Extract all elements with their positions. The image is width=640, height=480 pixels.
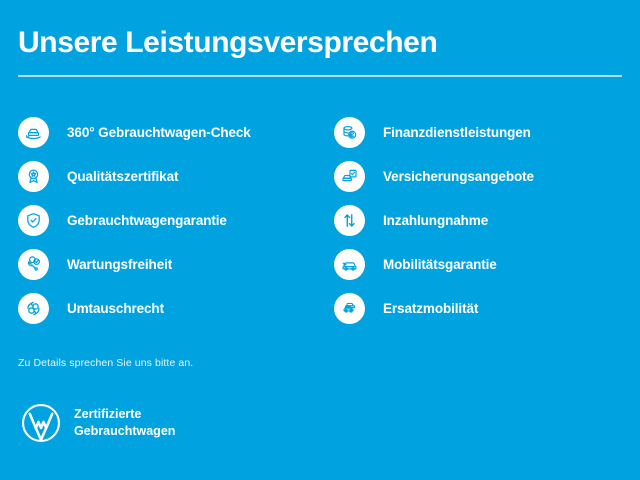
header-divider — [18, 75, 622, 77]
header: Unsere Leistungsversprechen — [18, 26, 622, 59]
benefit-label: Gebrauchtwagengarantie — [67, 213, 227, 228]
benefit-item-umtauschrecht[interactable]: Umtauschrecht — [18, 286, 318, 330]
benefit-item-gebrauchtwagengarantie[interactable]: Gebrauchtwagengarantie — [18, 198, 318, 242]
arrows-up-down-icon — [334, 205, 365, 236]
exchange-arrows-icon — [18, 293, 49, 324]
car-document-check-icon — [334, 161, 365, 192]
benefit-label: Inzahlungnahme — [383, 213, 488, 228]
benefit-item-versicherungsangebote[interactable]: Versicherungsangebote — [334, 154, 624, 198]
slide-root: Unsere Leistungsversprechen 360° Gebrauc… — [0, 0, 640, 480]
benefit-item-qualitaetszertifikat[interactable]: Qualitätszertifikat — [18, 154, 318, 198]
footnote-text: Zu Details sprechen Sie uns bitte an. — [18, 357, 193, 369]
car-360-inspection-icon — [18, 117, 49, 148]
logo-lockup: Zertifizierte Gebrauchtwagen — [20, 402, 175, 444]
benefit-item-gebrauchtwagen-check[interactable]: 360° Gebrauchtwagen-Check — [18, 110, 318, 154]
service-van-icon — [334, 249, 365, 280]
benefit-label: Wartungsfreiheit — [67, 257, 172, 272]
benefit-item-finanzdienstleistungen[interactable]: Finanzdienstleistungen — [334, 110, 624, 154]
coins-euro-icon — [334, 117, 365, 148]
logo-text: Zertifizierte Gebrauchtwagen — [74, 406, 175, 440]
benefit-label: 360° Gebrauchtwagen-Check — [67, 125, 251, 140]
benefits-left-column: 360° Gebrauchtwagen-Check Qualitätszerti… — [18, 110, 318, 330]
benefit-item-wartungsfreiheit[interactable]: Wartungsfreiheit — [18, 242, 318, 286]
benefit-label: Mobilitätsgarantie — [383, 257, 497, 272]
page-title: Unsere Leistungsversprechen — [18, 26, 622, 59]
logo-text-line1: Zertifizierte — [74, 406, 175, 423]
two-cars-icon — [334, 293, 365, 324]
benefit-label: Versicherungsangebote — [383, 169, 534, 184]
shield-check-icon — [18, 205, 49, 236]
benefits-section: 360° Gebrauchtwagen-Check Qualitätszerti… — [0, 110, 640, 330]
benefit-label: Finanzdienstleistungen — [383, 125, 531, 140]
benefit-label: Umtauschrecht — [67, 301, 164, 316]
benefit-item-mobilitaetsgarantie[interactable]: Mobilitätsgarantie — [334, 242, 624, 286]
benefit-item-ersatzmobilitaet[interactable]: Ersatzmobilität — [334, 286, 624, 330]
award-rosette-icon — [18, 161, 49, 192]
benefit-label: Qualitätszertifikat — [67, 169, 178, 184]
benefit-item-inzahlungnahme[interactable]: Inzahlungnahme — [334, 198, 624, 242]
wrench-check-icon — [18, 249, 49, 280]
benefit-label: Ersatzmobilität — [383, 301, 478, 316]
benefits-right-column: Finanzdienstleistungen Versicherungsange… — [334, 110, 624, 330]
volkswagen-logo-icon — [20, 402, 62, 444]
logo-text-line2: Gebrauchtwagen — [74, 423, 175, 440]
